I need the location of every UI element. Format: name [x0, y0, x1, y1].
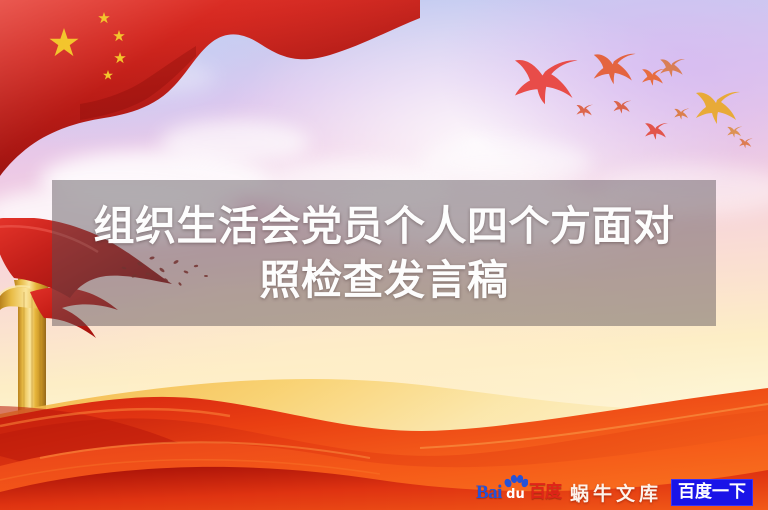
baidu-logo-bai: Bai: [476, 483, 502, 502]
watermark-bar: Bai du 百度 蜗牛文库 百度一下: [476, 478, 753, 506]
page-title: 组织生活会党员个人四个方面对 照检查发言稿: [52, 199, 716, 307]
baidu-logo-du: du: [503, 487, 528, 502]
birds-flock-icon: [480, 40, 768, 170]
page-title-line-2: 照检查发言稿: [58, 253, 710, 307]
poster-canvas: 组织生活会党员个人四个方面对 照检查发言稿 Bai du 百度 蜗牛文库 百度一…: [0, 0, 768, 510]
baidu-logo[interactable]: Bai du 百度: [476, 480, 561, 504]
chinese-flag-icon: [0, 0, 420, 210]
baidu-search-button[interactable]: 百度一下: [671, 479, 753, 506]
baidu-logo-chinese: 百度: [529, 484, 561, 501]
page-title-line-1: 组织生活会党员个人四个方面对: [58, 199, 710, 253]
title-overlay-panel: 组织生活会党员个人四个方面对 照检查发言稿: [52, 180, 716, 326]
paw-print-icon: du: [503, 480, 528, 504]
site-name: 蜗牛文库: [570, 479, 662, 506]
